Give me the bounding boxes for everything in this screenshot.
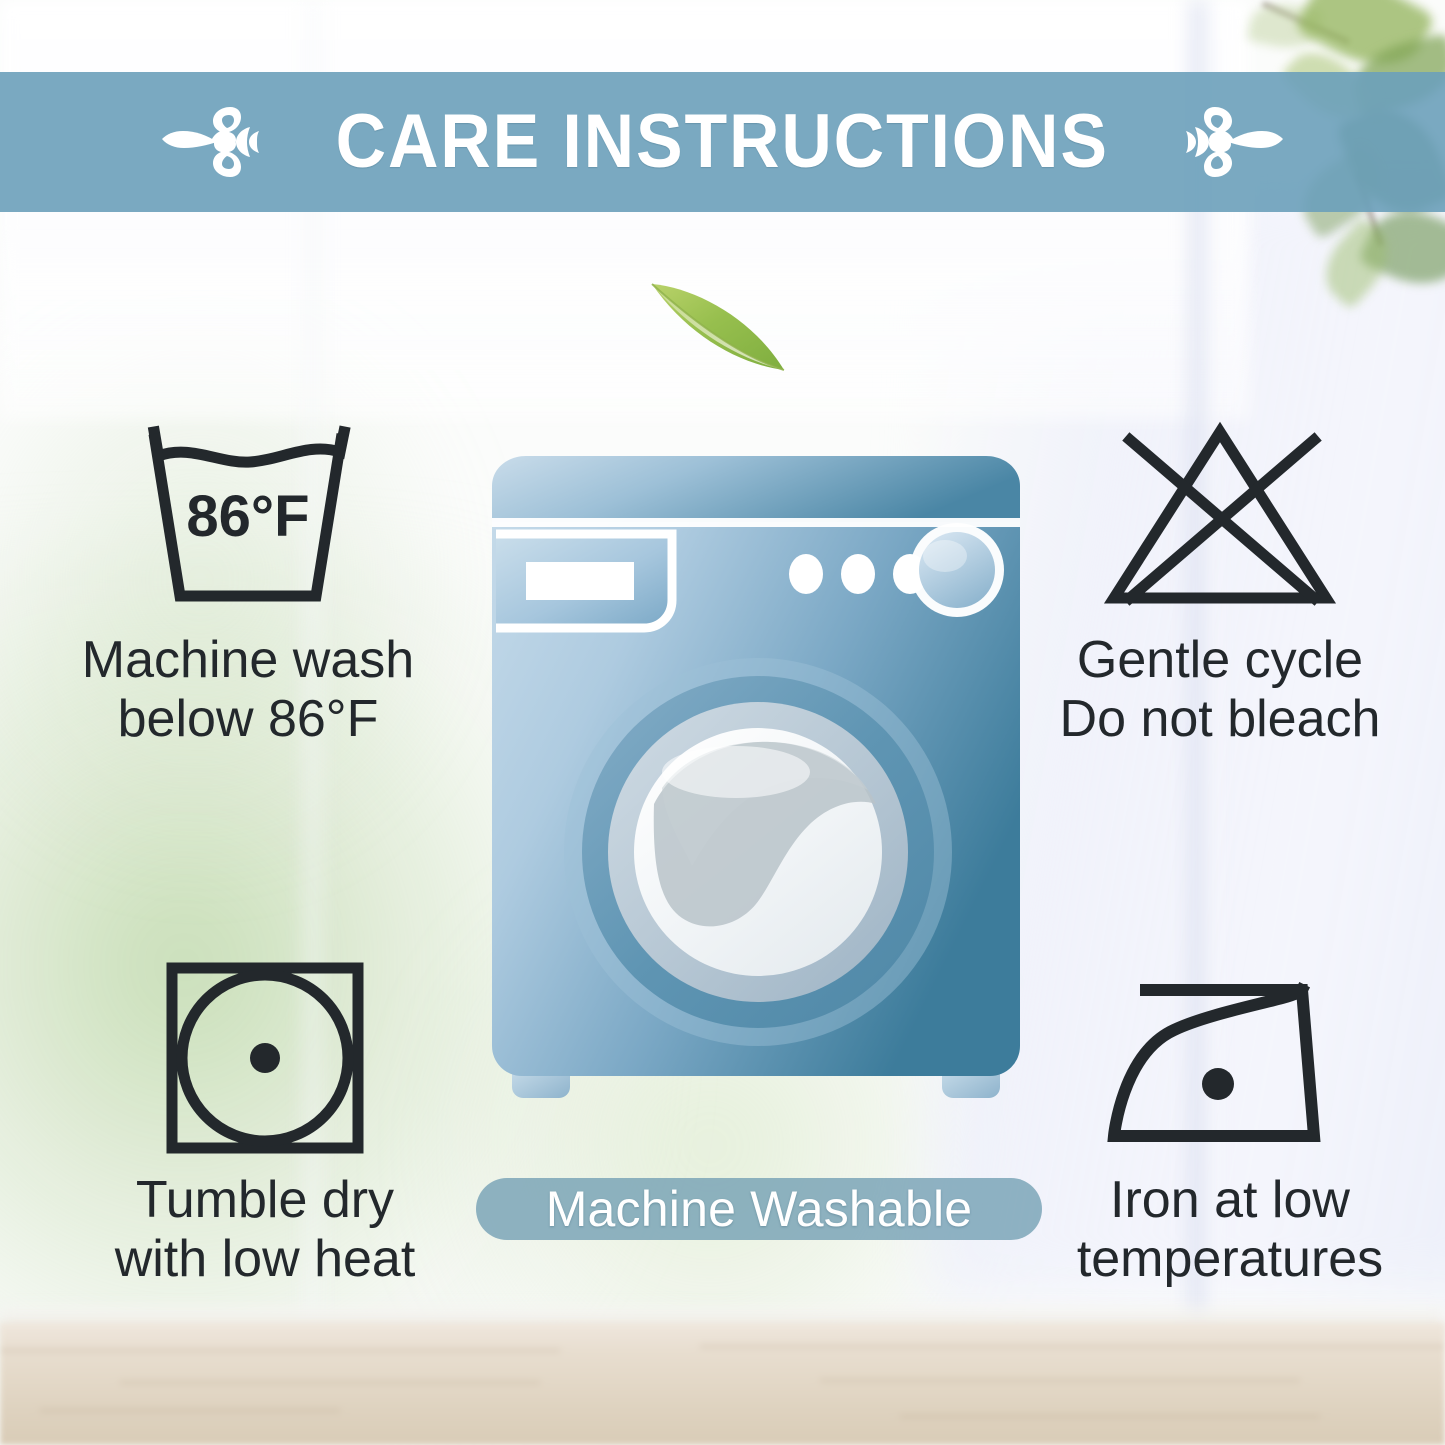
triangle-crossed-no-bleach-icon	[1090, 418, 1350, 623]
care-symbol-tumble-dry: Tumble dry with low heat	[55, 958, 475, 1290]
indicator-dot	[789, 554, 823, 594]
machine-top-divider	[492, 518, 1020, 527]
fleur-de-lis-ornament-icon-right	[1169, 97, 1287, 187]
indicator-dot	[841, 554, 875, 594]
machine-washable-badge-label: Machine Washable	[546, 1184, 973, 1234]
door-highlight	[662, 746, 810, 798]
machine-door	[564, 658, 952, 1046]
care-symbol-do-not-bleach: Gentle cycle Do not bleach	[1010, 418, 1430, 750]
care-label-tumble-dry: Tumble dry with low heat	[115, 1171, 416, 1290]
fleur-de-lis-ornament-icon-left	[158, 97, 276, 187]
tumble-dry-low-heat-icon	[158, 958, 373, 1163]
care-instructions-infographic: CARE INSTRUCTIONS	[0, 0, 1445, 1445]
header-banner: CARE INSTRUCTIONS	[0, 72, 1445, 212]
machine-top-panel	[492, 456, 1020, 522]
care-symbol-machine-wash: 86°F Machine wash below 86°F	[38, 418, 458, 750]
iron-low-temperature-icon	[1100, 958, 1360, 1163]
wash-temperature-value: 86°F	[186, 484, 309, 549]
control-knob-icon	[910, 523, 1004, 617]
detergent-drawer-icon	[496, 534, 672, 628]
care-label-iron: Iron at low temperatures	[1077, 1171, 1383, 1290]
washing-machine-illustration	[486, 452, 1026, 1124]
wooden-table-surface-icon	[0, 1323, 1445, 1445]
green-leaf-icon	[642, 272, 802, 382]
indicator-lights	[789, 554, 927, 594]
care-symbol-iron: Iron at low temperatures	[1020, 958, 1440, 1290]
wash-tub-icon: 86°F	[118, 418, 378, 623]
page-title: CARE INSTRUCTIONS	[336, 104, 1109, 180]
machine-washable-badge: Machine Washable	[476, 1178, 1042, 1240]
care-label-do-not-bleach: Gentle cycle Do not bleach	[1060, 631, 1381, 750]
care-label-machine-wash: Machine wash below 86°F	[82, 631, 414, 750]
